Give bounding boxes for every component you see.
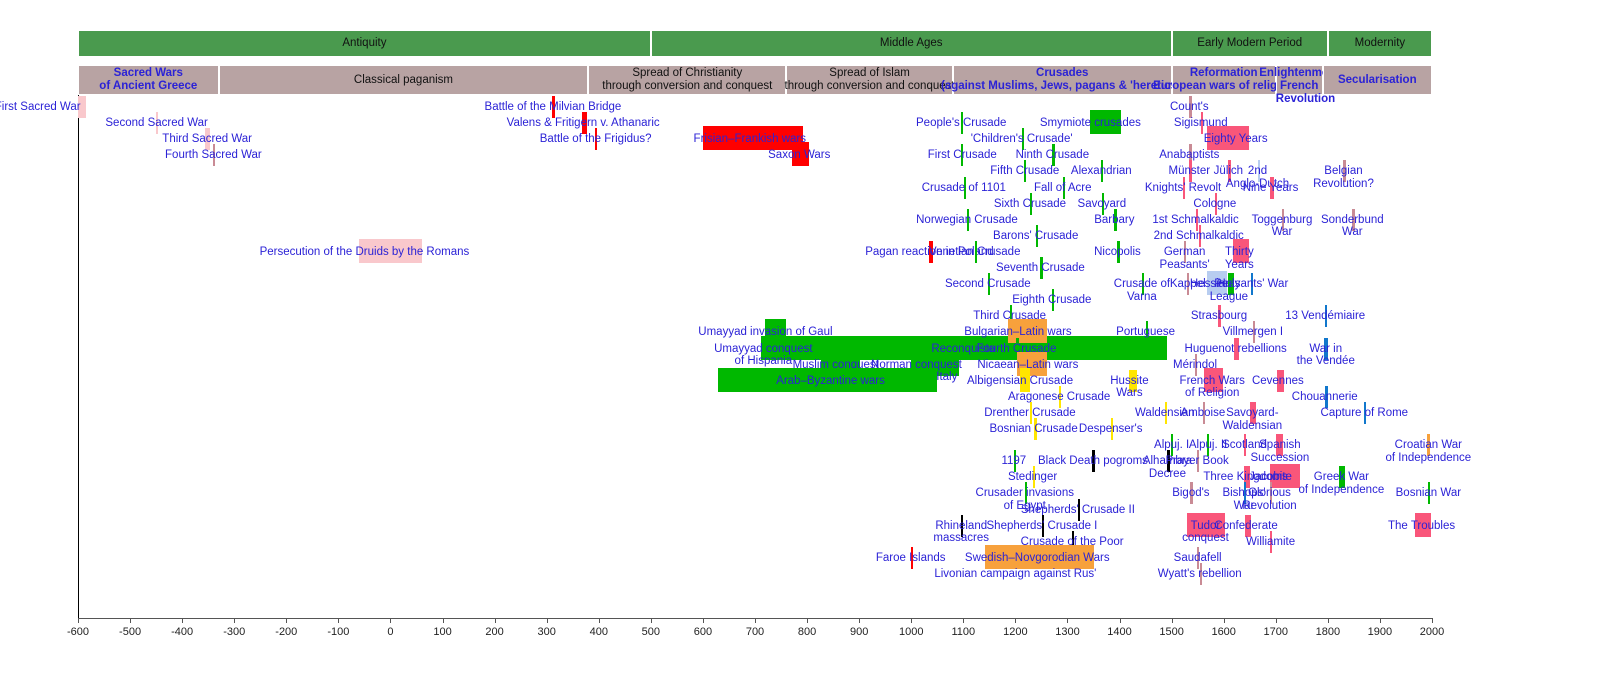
event-label: Arab–Byzantine wars bbox=[776, 375, 885, 388]
event-label-line2: Varna bbox=[1114, 291, 1170, 304]
x-axis-tick-label: 400 bbox=[590, 626, 608, 638]
event-label-line1: Seventh Crusade bbox=[996, 262, 1085, 275]
event-label-line1: Spanish bbox=[1251, 439, 1310, 452]
event-label: Sixth Crusade bbox=[994, 198, 1066, 211]
event-label-line1: Alexandrian bbox=[1071, 165, 1132, 178]
event-label-line1: Bosnian War bbox=[1396, 487, 1461, 500]
y-axis-line bbox=[78, 95, 79, 618]
event-label: Cevennes bbox=[1252, 375, 1304, 388]
event-label: Eighty Years bbox=[1204, 133, 1268, 146]
x-axis-tick-label: -300 bbox=[223, 626, 245, 638]
event-label: Third Sacred War bbox=[162, 133, 252, 146]
event-label-line2: Succession bbox=[1251, 452, 1310, 465]
event-label-line1: 2nd bbox=[1226, 165, 1289, 178]
x-axis-tick-label: -200 bbox=[275, 626, 297, 638]
event-label-line2: massacres bbox=[933, 532, 989, 545]
event-label-line1: Villmergen I bbox=[1223, 326, 1284, 339]
event-label-line1: Capture of Rome bbox=[1321, 407, 1409, 420]
event-label-line1: Barbary bbox=[1094, 214, 1134, 227]
event-label-line2: of Religion bbox=[1180, 387, 1245, 400]
event-label-line2: War bbox=[1321, 226, 1384, 239]
event-label: Albigensian Crusade bbox=[967, 375, 1073, 388]
event-label-line1: The Troubles bbox=[1388, 520, 1455, 533]
event-label-line1: Bosnian Crusade bbox=[989, 423, 1077, 436]
event-label: Amboise bbox=[1180, 407, 1225, 420]
event-label: Valens & Fritigern v. Athanaric bbox=[507, 117, 660, 130]
event-label-line2: of Independence bbox=[1299, 484, 1385, 497]
event-label: War inthe Vendée bbox=[1297, 343, 1355, 368]
event-label-line1: Thirty bbox=[1225, 246, 1254, 259]
event-label-line2: Years bbox=[1225, 259, 1254, 272]
event-label: 1st Schmalkaldic bbox=[1152, 214, 1238, 227]
x-axis-tick bbox=[911, 618, 912, 623]
event-label-line2: of Independence bbox=[1385, 452, 1471, 465]
event-label: Shepherds' Crusade I bbox=[987, 520, 1098, 533]
event-label-line1: Albigensian Crusade bbox=[967, 375, 1073, 388]
event-label: Eighth Crusade bbox=[1012, 294, 1091, 307]
event-label-line1: French Wars bbox=[1180, 375, 1245, 388]
event-label-line1: Cevennes bbox=[1252, 375, 1304, 388]
event-label-line2: Peasants' bbox=[1160, 259, 1210, 272]
event-label: Alexandrian bbox=[1071, 165, 1132, 178]
event-label: Battle of the Milvian Bridge bbox=[485, 101, 622, 114]
x-axis-tick-label: -500 bbox=[119, 626, 141, 638]
event-label: 1197 bbox=[1001, 455, 1026, 468]
event-label-line2: War bbox=[1252, 226, 1313, 239]
event-label: Persecution of the Druids by the Romans bbox=[260, 246, 470, 259]
event-label-line1: 13 Vendémiaire bbox=[1285, 310, 1365, 323]
timeline-chart: AntiquityMiddle AgesEarly Modern PeriodM… bbox=[0, 0, 1600, 700]
event-label: Münster bbox=[1169, 165, 1211, 178]
event-label-line1: First Crusade bbox=[928, 149, 997, 162]
x-axis-tick-label: 300 bbox=[538, 626, 556, 638]
x-axis-tick bbox=[547, 618, 548, 623]
event-label-line1: Venetian Crusade bbox=[929, 246, 1020, 259]
x-axis-tick bbox=[703, 618, 704, 623]
event-label: Battle of the Frigidus? bbox=[540, 133, 652, 146]
event-label: Bigod's bbox=[1172, 487, 1209, 500]
event-label-line1: Savoyard- bbox=[1222, 407, 1282, 420]
event-label: Second Sacred War bbox=[105, 117, 207, 130]
event-label-line1: Second Crusade bbox=[945, 278, 1031, 291]
x-axis-tick bbox=[963, 618, 964, 623]
event-label-line1: Münster bbox=[1169, 165, 1211, 178]
event-label-line2: conquest bbox=[1182, 532, 1229, 545]
x-axis-tick bbox=[1432, 618, 1433, 623]
event-label-line1: Strasbourg bbox=[1191, 310, 1247, 323]
event-label: Alpuj. I bbox=[1154, 439, 1189, 452]
x-axis-tick bbox=[234, 618, 235, 623]
event-label: SonderbundWar bbox=[1321, 214, 1384, 239]
x-axis-tick bbox=[599, 618, 600, 623]
event-label-line1: German bbox=[1160, 246, 1210, 259]
event-label-line1: Hussite bbox=[1110, 375, 1148, 388]
event-label-line1: Fall of Acre bbox=[1034, 182, 1092, 195]
x-axis-tick-label: 1200 bbox=[1003, 626, 1027, 638]
event-label-line1: Saxon Wars bbox=[768, 149, 830, 162]
event-label: Villmergen I bbox=[1223, 326, 1284, 339]
x-axis-tick-label: 1100 bbox=[951, 626, 975, 638]
event-label-line1: Faroe Islands bbox=[876, 552, 946, 565]
event-label-line1: Swedish–Novgorodian Wars bbox=[965, 552, 1110, 565]
x-axis-tick bbox=[338, 618, 339, 623]
event-label: First Sacred War bbox=[0, 101, 81, 114]
event-label-line1: Wyatt's rebellion bbox=[1158, 568, 1242, 581]
event-label-line1: Belgian bbox=[1313, 165, 1374, 178]
x-axis-tick-label: -600 bbox=[67, 626, 89, 638]
x-axis-tick bbox=[78, 618, 79, 623]
event-label-line1: Rhineland bbox=[933, 520, 989, 533]
event-label-line1: People's Crusade bbox=[916, 117, 1006, 130]
x-axis-tick-label: 700 bbox=[746, 626, 764, 638]
event-label: Black Death pogroms bbox=[1038, 455, 1148, 468]
event-label: Prayer Book bbox=[1165, 455, 1228, 468]
event-label-line1: Persecution of the Druids by the Romans bbox=[260, 246, 470, 259]
event-label-line1: 1197 bbox=[1001, 455, 1026, 468]
event-label: Savoyard bbox=[1078, 198, 1127, 211]
event-label: BelgianRevolution? bbox=[1313, 165, 1374, 190]
event-label-line1: Toggenburg bbox=[1252, 214, 1313, 227]
event-label-line1: Despenser's bbox=[1079, 423, 1143, 436]
event-label-line2: Revolution? bbox=[1313, 178, 1374, 191]
event-label-line1: Aragonese Crusade bbox=[1008, 391, 1110, 404]
event-label: Drenther Crusade bbox=[984, 407, 1075, 420]
event-label: Croatian Warof Independence bbox=[1385, 439, 1471, 464]
event-label-line1: Crusade of 1101 bbox=[922, 182, 1006, 195]
event-label: Saudafell bbox=[1174, 552, 1222, 565]
event-label-line2: Waldensian bbox=[1222, 420, 1282, 433]
x-axis-tick bbox=[1276, 618, 1277, 623]
event-label-line1: Fifth Crusade bbox=[990, 165, 1059, 178]
event-label: Livonian campaign against Rus' bbox=[934, 568, 1096, 581]
event-label: Fifth Crusade bbox=[990, 165, 1059, 178]
event-label: Knights' Revolt bbox=[1145, 182, 1221, 195]
event-label: SpanishSuccession bbox=[1251, 439, 1310, 464]
event-label-line1: Frisian–Frankish wars bbox=[694, 133, 806, 146]
x-axis-tick-label: 500 bbox=[642, 626, 660, 638]
event-label: Portuguese bbox=[1116, 326, 1175, 339]
x-axis-tick-label: 200 bbox=[485, 626, 503, 638]
x-axis-tick-label: 900 bbox=[850, 626, 868, 638]
event-label: The Troubles bbox=[1388, 520, 1455, 533]
x-axis-tick bbox=[130, 618, 131, 623]
event-label-line1: Umayyad conquest bbox=[714, 343, 812, 356]
x-axis-tick bbox=[1380, 618, 1381, 623]
event-label-line1: Peasants' War bbox=[1214, 278, 1288, 291]
x-axis-tick bbox=[859, 618, 860, 623]
event-label: Fourth Sacred War bbox=[165, 149, 262, 162]
event-label-line1: Amboise bbox=[1180, 407, 1225, 420]
x-axis-tick-label: 1500 bbox=[1159, 626, 1183, 638]
event-label-line1: Confederate bbox=[1214, 520, 1277, 533]
event-label: French Warsof Religion bbox=[1180, 375, 1245, 400]
event-label: Faroe Islands bbox=[876, 552, 946, 565]
event-label-line1: Smymiote crusades bbox=[1040, 117, 1141, 130]
event-label-line1: Sixth Crusade bbox=[994, 198, 1066, 211]
x-axis-tick-label: 100 bbox=[433, 626, 451, 638]
event-label-line1: Third Sacred War bbox=[162, 133, 252, 146]
event-label-line2: the Vendée bbox=[1297, 355, 1355, 368]
event-label-line1: Croatian War bbox=[1385, 439, 1471, 452]
x-axis-tick-label: 1400 bbox=[1107, 626, 1131, 638]
event-label: GloriousRevolution bbox=[1242, 487, 1296, 512]
x-axis-tick-label: 1300 bbox=[1055, 626, 1079, 638]
event-label: Frisian–Frankish wars bbox=[694, 133, 806, 146]
x-axis-tick bbox=[443, 618, 444, 623]
event-label: Second Crusade bbox=[945, 278, 1031, 291]
event-label-line1: Knights' Revolt bbox=[1145, 182, 1221, 195]
event-label: GermanPeasants' bbox=[1160, 246, 1210, 271]
event-label-line1: Arab–Byzantine wars bbox=[776, 375, 885, 388]
event-label-line1: Sonderbund bbox=[1321, 214, 1384, 227]
event-label: People's Crusade bbox=[916, 117, 1006, 130]
event-label: Fall of Acre bbox=[1034, 182, 1092, 195]
event-label-line1: Crusader invasions bbox=[976, 487, 1074, 500]
event-label-line1: Eighty Years bbox=[1204, 133, 1268, 146]
event-label: Huguenot rebellions bbox=[1185, 343, 1287, 356]
event-label: Ninth Crusade bbox=[1016, 149, 1090, 162]
event-label-line1: 2nd Schmalkaldic bbox=[1154, 230, 1244, 243]
x-axis-tick-label: -400 bbox=[171, 626, 193, 638]
event-label: Shepherds' Crusade II bbox=[1021, 504, 1135, 517]
event-label: First Crusade bbox=[928, 149, 997, 162]
x-axis-tick-label: 1700 bbox=[1264, 626, 1288, 638]
event-label-line1: Portuguese bbox=[1116, 326, 1175, 339]
x-axis-tick-label: 1000 bbox=[899, 626, 923, 638]
x-axis-tick bbox=[495, 618, 496, 623]
event-label: Chouannerie bbox=[1292, 391, 1358, 404]
event-label: Seventh Crusade bbox=[996, 262, 1085, 275]
event-label: HussiteWars bbox=[1110, 375, 1148, 400]
event-label: Peasants' War bbox=[1214, 278, 1288, 291]
event-label-line1: Stedinger bbox=[1008, 471, 1057, 484]
event-label-line1: Fourth Sacred War bbox=[165, 149, 262, 162]
event-label: ToggenburgWar bbox=[1252, 214, 1313, 239]
event-label: Barbary bbox=[1094, 214, 1134, 227]
event-label-line1: Saudafell bbox=[1174, 552, 1222, 565]
event-label-line1: Alpuj. I bbox=[1154, 439, 1189, 452]
x-axis-tick bbox=[286, 618, 287, 623]
event-label-line1: Shepherds' Crusade I bbox=[987, 520, 1098, 533]
x-axis-tick-label: 0 bbox=[387, 626, 393, 638]
event-label-line1: Eighth Crusade bbox=[1012, 294, 1091, 307]
x-axis-tick-label: 2000 bbox=[1420, 626, 1444, 638]
event-label-line2: Decree bbox=[1143, 468, 1192, 481]
event-label: Capture of Rome bbox=[1321, 407, 1409, 420]
event-label-line1: Battle of the Milvian Bridge bbox=[485, 101, 622, 114]
event-label-line1: Crusade of bbox=[1114, 278, 1170, 291]
event-label-line2: Wars bbox=[1110, 387, 1148, 400]
event-label: Despenser's bbox=[1079, 423, 1143, 436]
x-axis-tick bbox=[390, 618, 391, 623]
event-label: Venetian Crusade bbox=[929, 246, 1020, 259]
event-label: Saxon Wars bbox=[768, 149, 830, 162]
event-label: Wyatt's rebellion bbox=[1158, 568, 1242, 581]
event-label-line2: Revolution bbox=[1242, 500, 1296, 513]
event-label-line1: Barons' Crusade bbox=[993, 230, 1078, 243]
event-label: 13 Vendémiaire bbox=[1285, 310, 1365, 323]
event-label: 'Children's Crusade' bbox=[971, 133, 1073, 146]
event-label: Savoyard-Waldensian bbox=[1222, 407, 1282, 432]
event-label-line1: Valens & Fritigern v. Athanaric bbox=[507, 117, 660, 130]
event-label-line1: Second Sacred War bbox=[105, 117, 207, 130]
x-axis-tick bbox=[651, 618, 652, 623]
event-label-line1: 1st Schmalkaldic bbox=[1152, 214, 1238, 227]
event-label: Confederate bbox=[1214, 520, 1277, 533]
event-label-line1: War in bbox=[1297, 343, 1355, 356]
event-label-line1: Drenther Crusade bbox=[984, 407, 1075, 420]
x-axis-tick bbox=[755, 618, 756, 623]
event-label-line1: Bigod's bbox=[1172, 487, 1209, 500]
event-label-line1: Nicopolis bbox=[1094, 246, 1141, 259]
x-axis-tick-label: -100 bbox=[327, 626, 349, 638]
x-axis-tick-label: 1800 bbox=[1316, 626, 1340, 638]
event-label-line1: Ninth Crusade bbox=[1016, 149, 1090, 162]
x-axis-tick bbox=[1015, 618, 1016, 623]
event-label-line1: First Sacred War bbox=[0, 101, 81, 114]
event-label: Nicopolis bbox=[1094, 246, 1141, 259]
event-label-line1: 'Children's Crusade' bbox=[971, 133, 1073, 146]
event-label-line1: Glorious bbox=[1242, 487, 1296, 500]
event-label-line1: Black Death pogroms bbox=[1038, 455, 1148, 468]
event-label: Bosnian Crusade bbox=[989, 423, 1077, 436]
event-label: Crusade of 1101 bbox=[922, 182, 1006, 195]
event-label: Greek Warof Independence bbox=[1299, 471, 1385, 496]
event-label-line2: League bbox=[1210, 291, 1248, 304]
event-label: 2nd Schmalkaldic bbox=[1154, 230, 1244, 243]
event-label-line1: Savoyard bbox=[1078, 198, 1127, 211]
x-axis-tick bbox=[182, 618, 183, 623]
x-axis-tick-label: 1900 bbox=[1368, 626, 1392, 638]
event-label: Barons' Crusade bbox=[993, 230, 1078, 243]
event-label-line1: Norwegian Crusade bbox=[916, 214, 1018, 227]
event-label: Stedinger bbox=[1008, 471, 1057, 484]
x-axis-tick-label: 800 bbox=[798, 626, 816, 638]
x-axis-tick-label: 600 bbox=[694, 626, 712, 638]
event-label: Cologne bbox=[1193, 198, 1236, 211]
event-label: Smymiote crusades bbox=[1040, 117, 1141, 130]
x-axis-tick bbox=[807, 618, 808, 623]
event-label-line1: Prayer Book bbox=[1165, 455, 1228, 468]
x-axis-tick-label: 1600 bbox=[1211, 626, 1235, 638]
x-axis-tick bbox=[1067, 618, 1068, 623]
event-label-line1: Chouannerie bbox=[1292, 391, 1358, 404]
event-label-line1: Williamite bbox=[1246, 536, 1295, 549]
event-label: Rhinelandmassacres bbox=[933, 520, 989, 545]
event-label: Strasbourg bbox=[1191, 310, 1247, 323]
plot-area: -600-500-400-300-200-1000100200300400500… bbox=[0, 0, 1600, 700]
event-label-line1: Huguenot rebellions bbox=[1185, 343, 1287, 356]
x-axis-tick bbox=[1328, 618, 1329, 623]
event-label-line1: Cologne bbox=[1193, 198, 1236, 211]
x-axis-tick bbox=[1120, 618, 1121, 623]
event-label: Bosnian War bbox=[1396, 487, 1461, 500]
event-label: Norwegian Crusade bbox=[916, 214, 1018, 227]
event-label: Swedish–Novgorodian Wars bbox=[965, 552, 1110, 565]
event-label-line1: Battle of the Frigidus? bbox=[540, 133, 652, 146]
event-label-line1: Livonian campaign against Rus' bbox=[934, 568, 1096, 581]
event-label-line1: Greek War bbox=[1299, 471, 1385, 484]
x-axis-tick bbox=[1224, 618, 1225, 623]
event-label: Williamite bbox=[1246, 536, 1295, 549]
event-label: Aragonese Crusade bbox=[1008, 391, 1110, 404]
x-axis-tick bbox=[1172, 618, 1173, 623]
event-label-line1: Nine Years bbox=[1243, 182, 1299, 195]
event-label-line1: Shepherds' Crusade II bbox=[1021, 504, 1135, 517]
event-label: Crusade ofVarna bbox=[1114, 278, 1170, 303]
event-label: Nine Years bbox=[1243, 182, 1299, 195]
event-label: ThirtyYears bbox=[1225, 246, 1254, 271]
